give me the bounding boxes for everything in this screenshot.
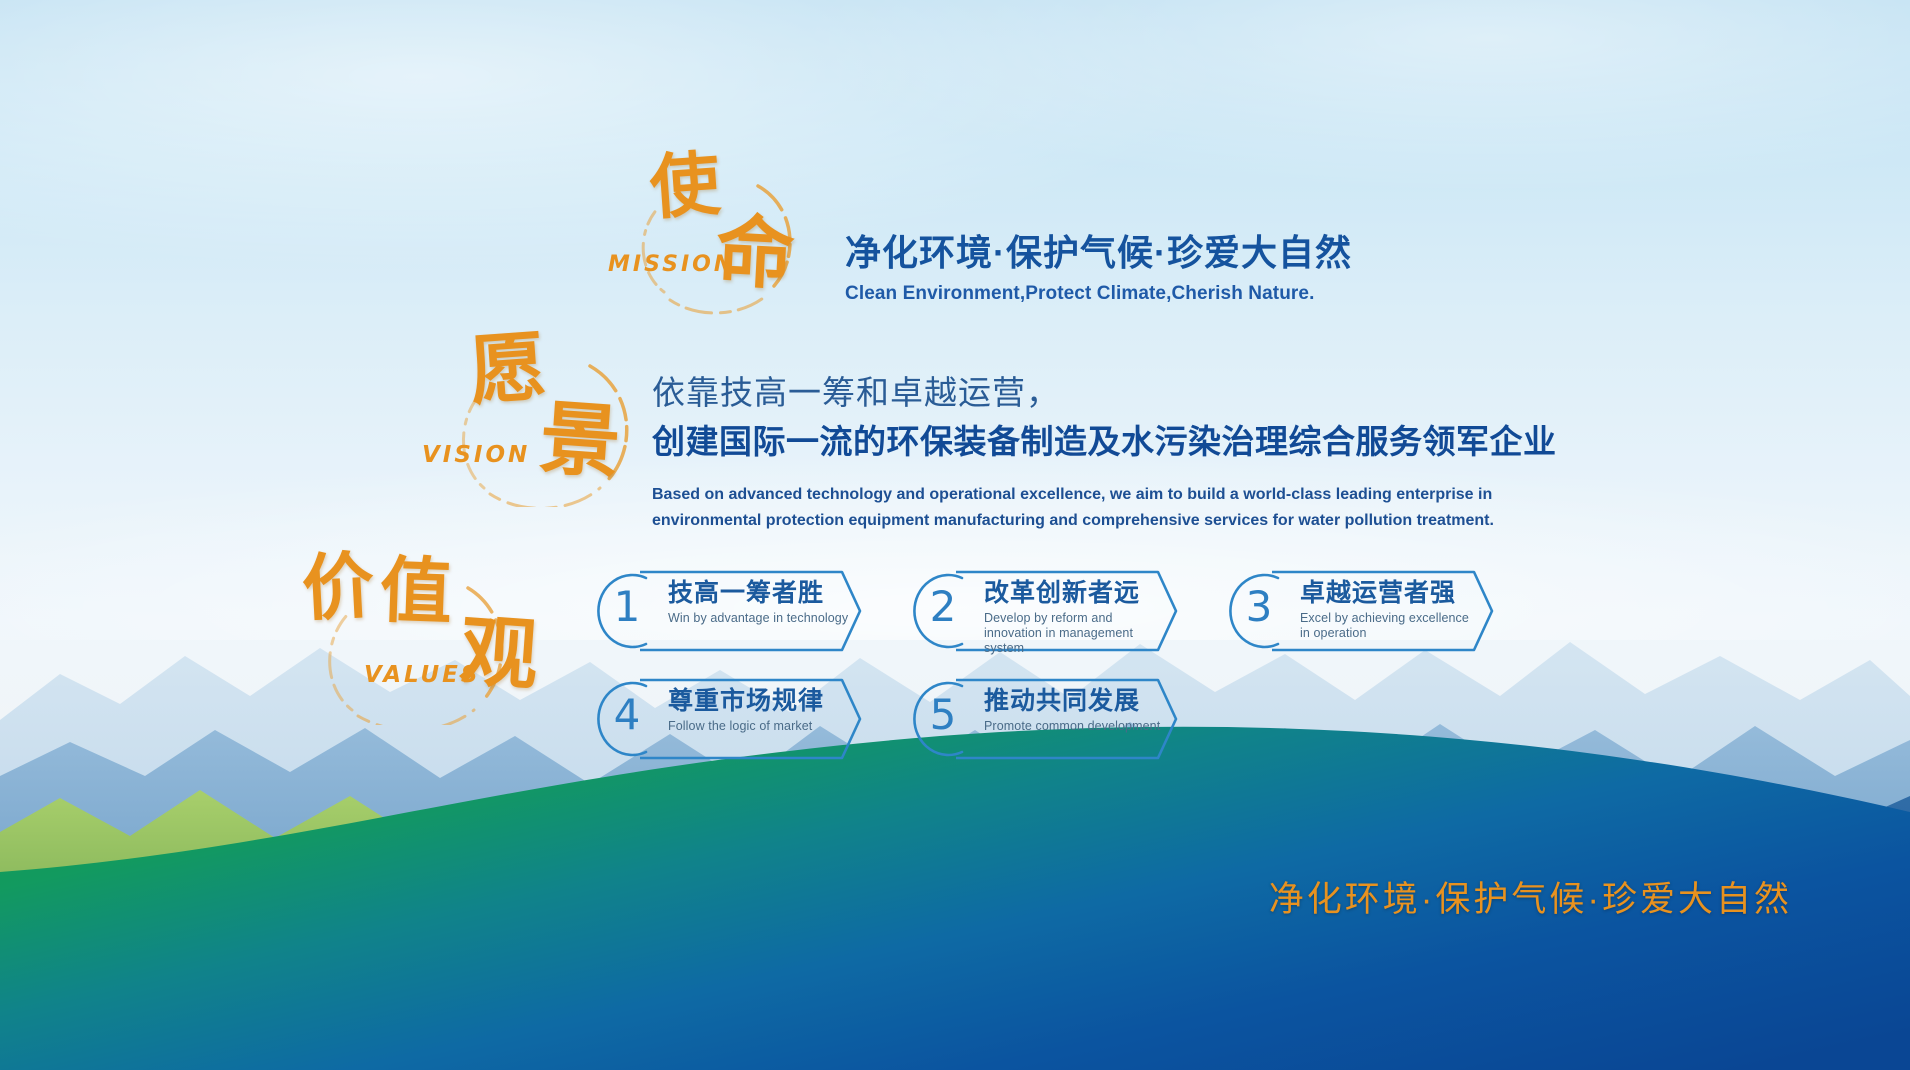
value-card-3[interactable]: 3 卓越运营者强 Excel by achieving excellence i… xyxy=(1212,568,1500,654)
culture-poster: 净化环境·保护气候·珍爱大自然 使 命 MISSION 净化环境·保护气候·珍爱… xyxy=(0,0,1910,1070)
value-title-cn: 改革创新者远 xyxy=(984,580,1166,608)
value-text: 尊重市场规律 Follow the logic of market xyxy=(668,688,850,734)
value-title-cn: 推动共同发展 xyxy=(984,688,1166,716)
value-title-en: Follow the logic of market xyxy=(668,719,850,734)
value-title-en: Win by advantage in technology xyxy=(668,611,850,626)
vision-line-2: 创建国际一流的环保装备制造及水污染治理综合服务领军企业 xyxy=(652,421,1602,464)
mission-seal: 使 命 MISSION xyxy=(608,160,828,315)
vision-seal: 愿 景 VISION xyxy=(432,342,662,507)
values-grid: 1 技高一筹者胜 Win by advantage in technology … xyxy=(580,568,1580,762)
value-text: 改革创新者远 Develop by reform and innovation … xyxy=(984,580,1166,656)
value-card-5[interactable]: 5 推动共同发展 Promote common development xyxy=(896,676,1184,762)
values-row-1: 1 技高一筹者胜 Win by advantage in technology … xyxy=(580,568,1580,654)
vision-seal-label: VISION xyxy=(422,442,530,468)
values-seal-char-2: 值 xyxy=(379,557,453,626)
value-title-cn: 卓越运营者强 xyxy=(1300,580,1482,608)
vision-paragraph-en: Based on advanced technology and operati… xyxy=(652,482,1532,535)
value-title-cn: 尊重市场规律 xyxy=(668,688,850,716)
value-card-4[interactable]: 4 尊重市场规律 Follow the logic of market xyxy=(580,676,868,762)
vision-block: 依靠技高一筹和卓越运营， 创建国际一流的环保装备制造及水污染治理综合服务领军企业… xyxy=(652,372,1602,535)
value-number: 5 xyxy=(918,694,968,736)
vision-seal-char-1: 愿 xyxy=(468,331,549,406)
value-number: 3 xyxy=(1234,586,1284,628)
values-seal-label: VALUES xyxy=(364,662,480,688)
mission-seal-char-1: 使 xyxy=(648,152,722,221)
value-text: 推动共同发展 Promote common development xyxy=(984,688,1166,734)
value-title-en: Excel by achieving excellence in operati… xyxy=(1300,611,1482,642)
value-title-en: Promote common development xyxy=(984,719,1166,734)
value-number: 1 xyxy=(602,586,652,628)
sky-haze-layer xyxy=(0,0,1910,640)
value-title-en: Develop by reform and innovation in mana… xyxy=(984,611,1166,657)
value-number: 4 xyxy=(602,694,652,736)
mission-title-en: Clean Environment,Protect Climate,Cheris… xyxy=(845,283,1485,305)
footer-slogan: 净化环境·保护气候·珍爱大自然 xyxy=(1269,871,1792,922)
mission-block: 净化环境·保护气候·珍爱大自然 Clean Environment,Protec… xyxy=(845,230,1485,305)
value-card-1[interactable]: 1 技高一筹者胜 Win by advantage in technology xyxy=(580,568,868,654)
values-seal-char-1: 价 xyxy=(300,552,375,622)
vision-line-1: 依靠技高一筹和卓越运营， xyxy=(652,372,1602,415)
value-title-cn: 技高一筹者胜 xyxy=(668,580,850,608)
values-seal: 价 值 观 VALUES xyxy=(292,560,542,725)
mission-title-cn: 净化环境·保护气候·珍爱大自然 xyxy=(845,230,1485,275)
value-text: 技高一筹者胜 Win by advantage in technology xyxy=(668,580,850,626)
value-number: 2 xyxy=(918,586,968,628)
vision-seal-char-2: 景 xyxy=(538,401,623,480)
values-row-2: 4 尊重市场规律 Follow the logic of market 5 推动… xyxy=(580,676,1580,762)
value-text: 卓越运营者强 Excel by achieving excellence in … xyxy=(1300,580,1482,641)
value-card-2[interactable]: 2 改革创新者远 Develop by reform and innovatio… xyxy=(896,568,1184,654)
mission-seal-label: MISSION xyxy=(608,252,735,277)
